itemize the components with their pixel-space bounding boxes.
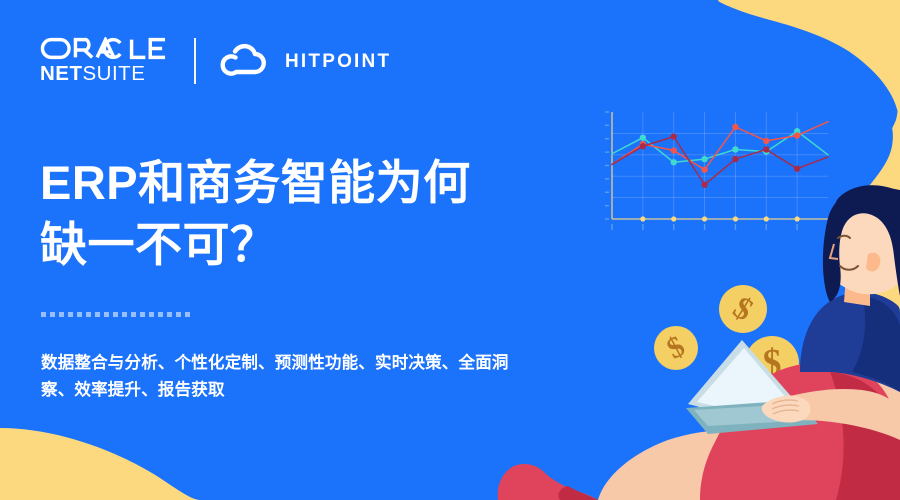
figure-shoe-shadow (558, 486, 598, 500)
woman-with-laptop-illustration: $ $ $ (0, 0, 900, 500)
coin-dollar-2: $ (719, 285, 767, 333)
promo-banner: NETSUITE HITPOINT ERP和商务智能为何 缺一不可？ 数据整合与… (0, 0, 900, 500)
coin-dollar-1: $ (654, 326, 698, 370)
